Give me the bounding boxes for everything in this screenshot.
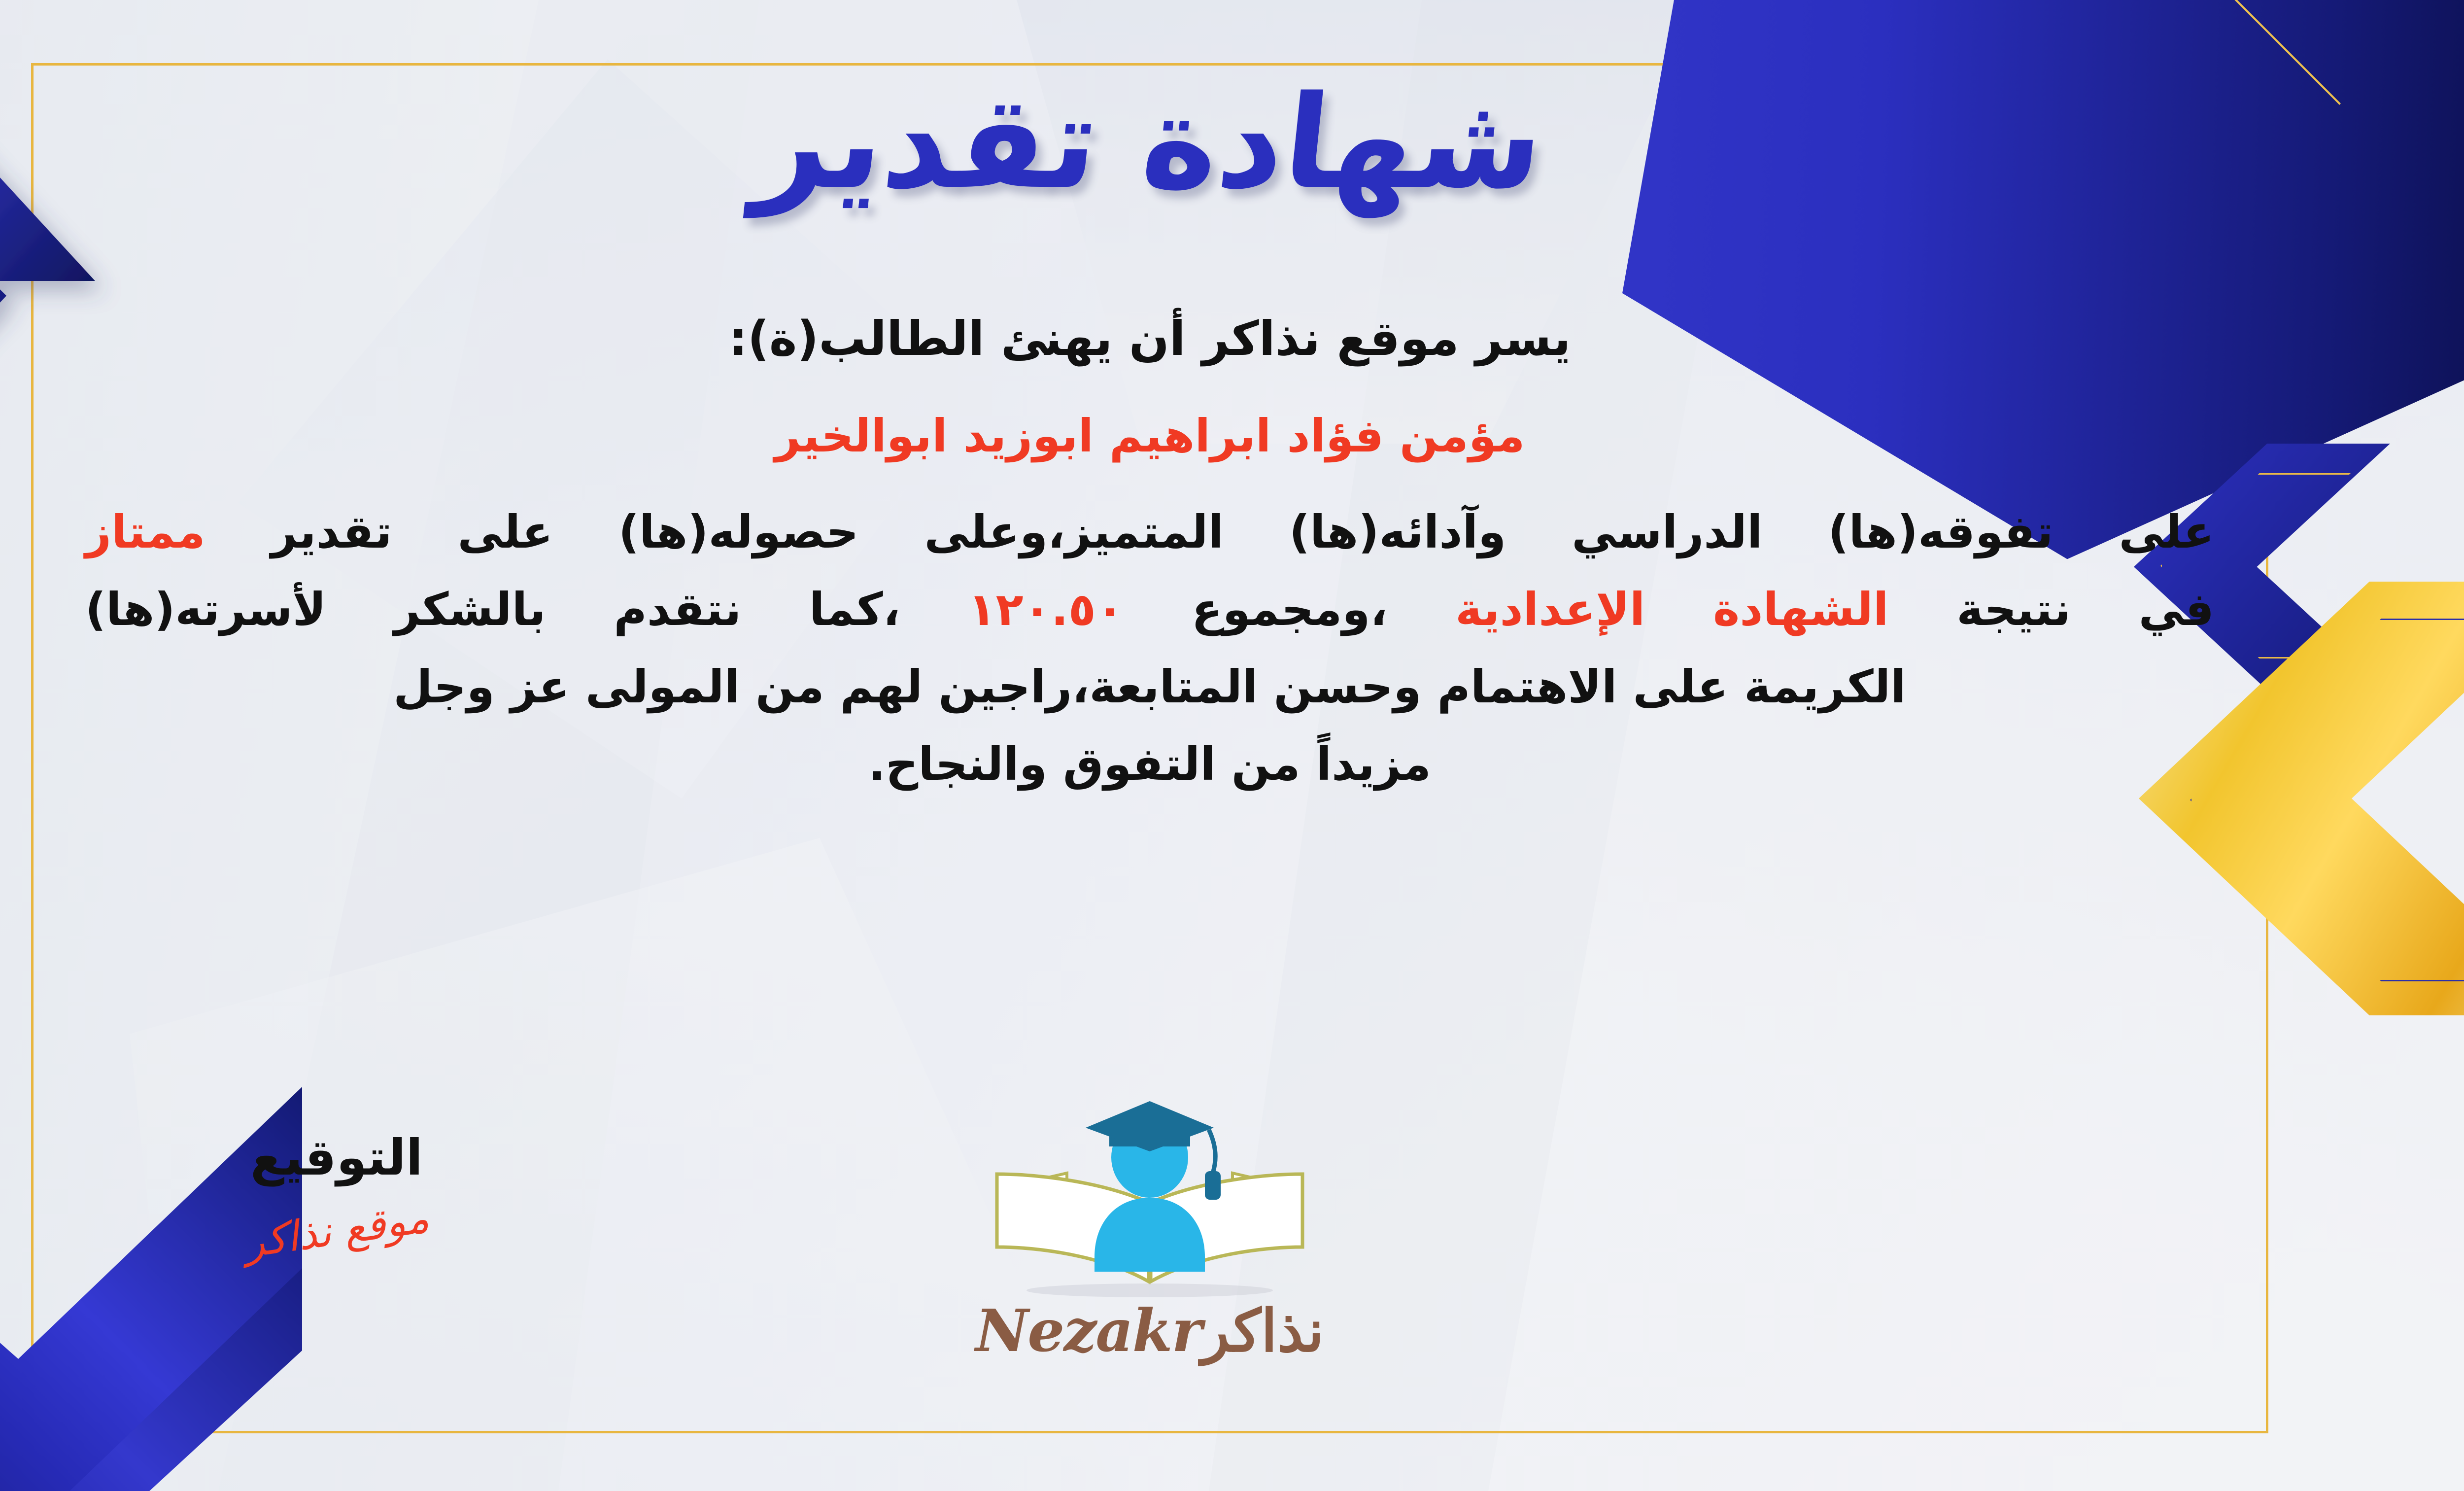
achievement-line-4: مزيداً من التفوق والنجاح.	[70, 728, 2229, 801]
total-prefix-text: ،ومجموع	[1192, 583, 1388, 636]
student-name: مؤمن فؤاد ابراهيم ابوزيد ابوالخير	[70, 399, 2229, 473]
signature-block: التوقيع موقع نذاكر	[164, 1129, 509, 1254]
signature-mark: موقع نذاكر	[241, 1193, 432, 1267]
logo-name-en: Nezakr	[975, 1296, 1201, 1365]
achievement-line-1: على تفوقه(ها) الدراسي وآدائه(ها) المتميز…	[70, 495, 2229, 569]
certificate-footer: التوقيع موقع نذاكر	[41, 1099, 2259, 1395]
certificate-canvas: شهادة تقدير يسر موقع نذاكر أن يهنئ الطال…	[0, 0, 2464, 1491]
achievement-line-2: في نتيجة الشهادة الإعدادية ،ومجموع ١٢٠.٥…	[70, 573, 2229, 646]
exam-name-value: الشهادة الإعدادية	[1455, 583, 1888, 636]
signature-label: التوقيع	[164, 1129, 509, 1186]
certificate-content: شهادة تقدير يسر موقع نذاكر أن يهنئ الطال…	[41, 69, 2259, 1429]
achievement-text-1: على تفوقه(ها) الدراسي وآدائه(ها) المتميز…	[271, 506, 2214, 558]
achievement-line-3: الكريمة على الاهتمام وحسن المتابعة،راجين…	[70, 650, 2229, 724]
grade-value: ممتاز	[85, 506, 205, 558]
logo-wordmark: نذاكرNezakr	[928, 1296, 1371, 1365]
certificate-title: شهادة تقدير	[34, 79, 2265, 207]
thanks-text: ،كما نتقدم بالشكر لأسرته(ها)	[85, 583, 900, 636]
total-score-value: ١٢٠.٥٠	[968, 583, 1124, 636]
exam-prefix-text: في نتيجة	[1956, 583, 2214, 636]
graduate-on-book-icon	[977, 1099, 1322, 1306]
certificate-body: يسر موقع نذاكر أن يهنئ الطالب(ة): مؤمن ف…	[70, 301, 2229, 805]
greeting-line: يسر موقع نذاكر أن يهنئ الطالب(ة):	[70, 301, 2229, 378]
logo-name-ar: نذاكر	[1201, 1296, 1324, 1365]
site-logo: نذاكرNezakr	[928, 1099, 1371, 1365]
